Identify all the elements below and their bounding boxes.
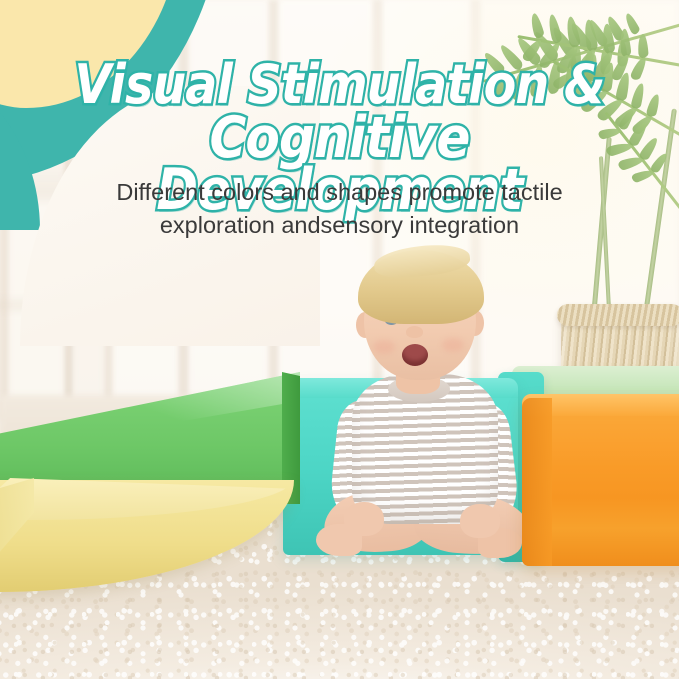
baby-mouth [402, 344, 428, 366]
baby-nose [406, 326, 423, 338]
product-lifestyle-poster: Visual Stimulation & Cognitive Developme… [0, 0, 679, 679]
baby-left-cheek [373, 340, 395, 354]
baby-right-hand [460, 504, 500, 538]
baby-subject [318, 252, 528, 582]
baby-left-hand [344, 502, 384, 536]
basket-rim [557, 304, 679, 326]
foam-block-orange-side [522, 398, 552, 566]
baby-right-cheek [442, 338, 464, 352]
